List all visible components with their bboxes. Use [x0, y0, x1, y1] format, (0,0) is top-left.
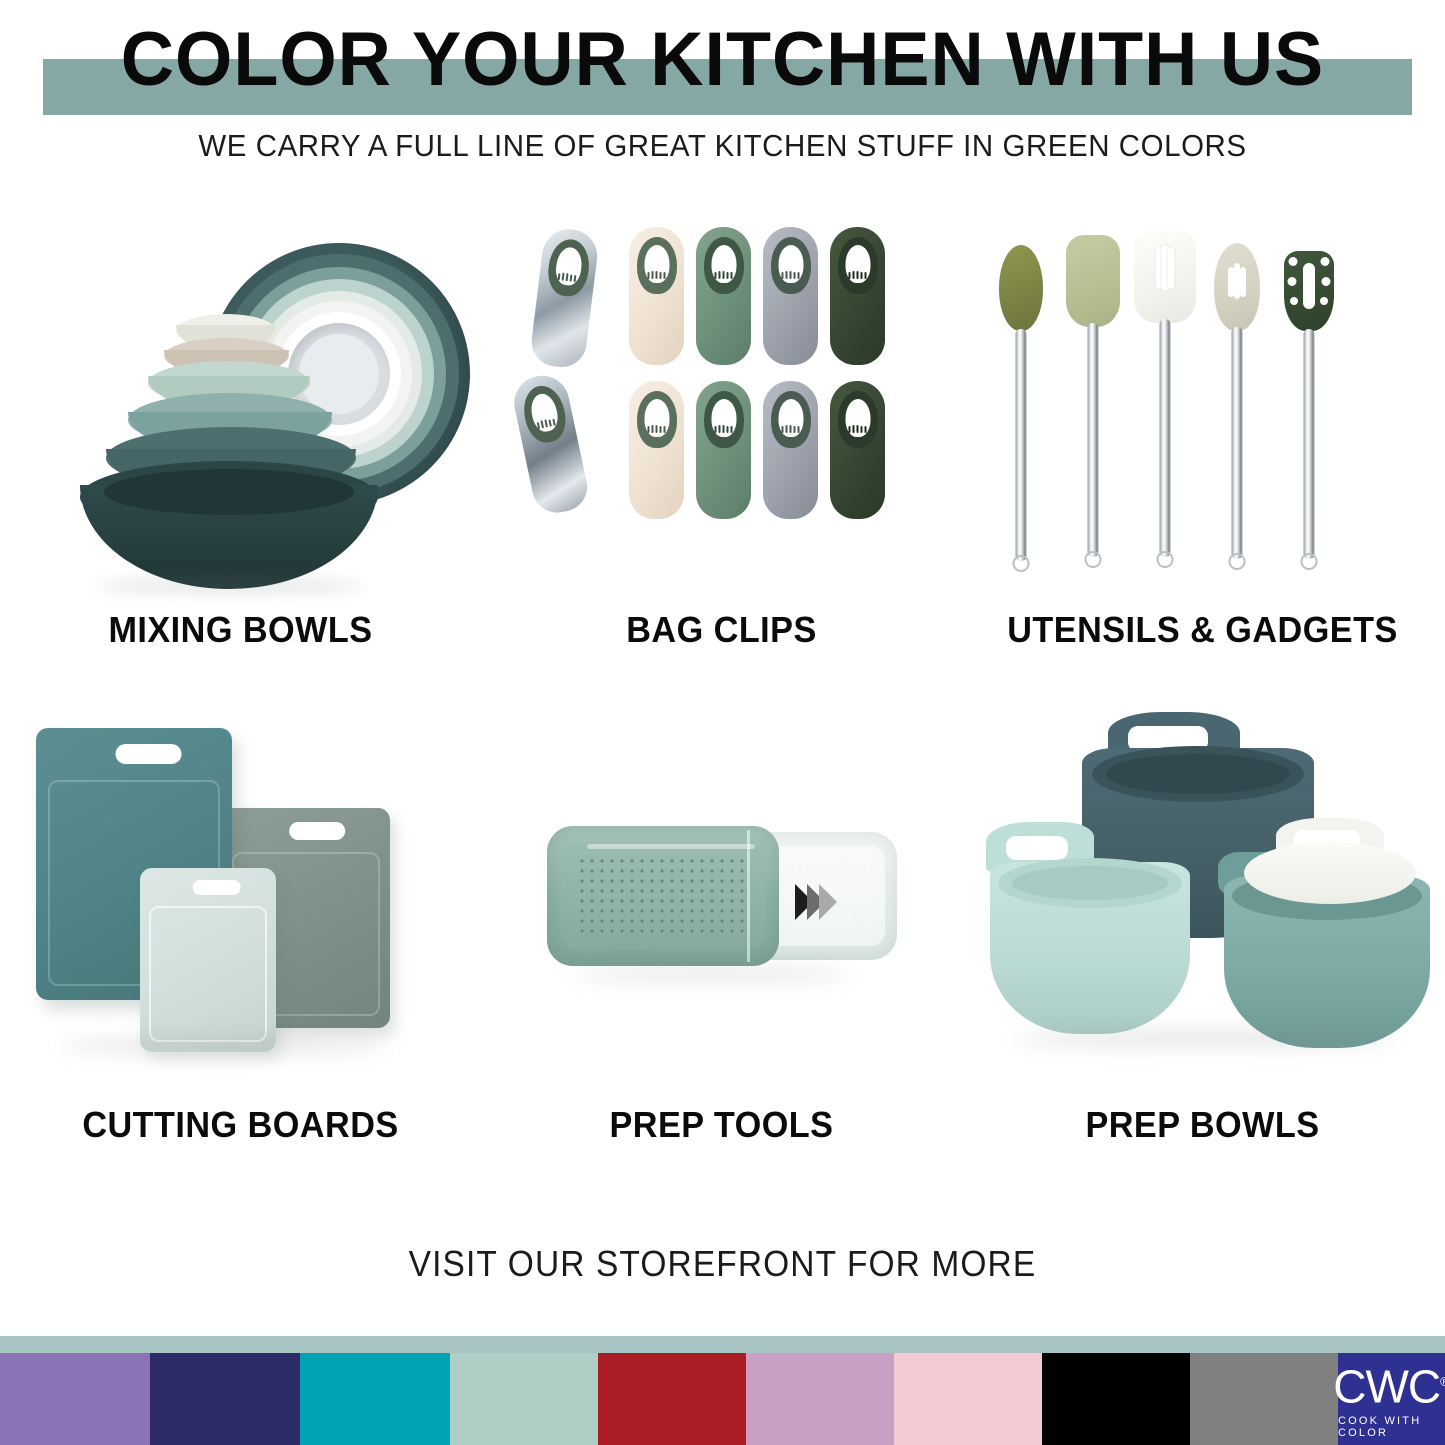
- category-grid: MIXING BOWLS: [0, 205, 1445, 1215]
- color-swatch-crimson: [598, 1353, 746, 1445]
- category-card-mixing-bowls[interactable]: MIXING BOWLS: [0, 205, 481, 685]
- brand-logo: CWC®COOK WITH COLOR: [1338, 1353, 1445, 1445]
- colander-basin: [547, 826, 779, 966]
- prep-bowl-teal: [1224, 818, 1430, 1042]
- cutting-board-mint: [140, 868, 276, 1052]
- utensil-pasta-server: [1286, 243, 1332, 587]
- prep-bowl-mint: [990, 822, 1190, 1040]
- color-swatch-black: [1042, 1353, 1190, 1445]
- utensil-slotted-spoon: [1214, 237, 1260, 587]
- prep-bowls-illustration: [962, 700, 1443, 1100]
- bag-clip-dark-green: [830, 227, 885, 365]
- bag-clip-marble: [529, 226, 600, 370]
- color-swatch-purple: [0, 1353, 150, 1445]
- cutting-boards-illustration: [0, 700, 481, 1100]
- bag-clip-sage: [696, 381, 751, 519]
- logo-mark: CWC®: [1333, 1359, 1445, 1409]
- category-card-prep-tools[interactable]: PREP TOOLS: [481, 700, 962, 1180]
- bag-clip-sage: [696, 227, 751, 365]
- bag-clip-gray: [763, 381, 818, 519]
- bag-clip-cream: [629, 381, 684, 519]
- mixing-bowls-illustration: [0, 205, 481, 605]
- registered-trademark-icon: ®: [1440, 1374, 1445, 1389]
- storefront-cta[interactable]: VISIT OUR STOREFRONT FOR MORE: [51, 1243, 1395, 1285]
- color-swatch-strip: CWC®COOK WITH COLOR: [0, 1353, 1445, 1445]
- category-card-prep-bowls[interactable]: PREP BOWLS: [962, 700, 1443, 1180]
- category-label: CUTTING BOARDS: [12, 1104, 469, 1146]
- category-card-utensils-gadgets[interactable]: UTENSILS & GADGETS: [962, 205, 1443, 685]
- color-swatch-lilac: [746, 1353, 894, 1445]
- page-title: COLOR YOUR KITCHEN WITH US: [22, 18, 1424, 102]
- banner-root: COLOR YOUR KITCHEN WITH US WE CARRY A FU…: [0, 0, 1445, 1445]
- footer-accent-band: [0, 1336, 1445, 1353]
- logo-tagline: COOK WITH COLOR: [1338, 1415, 1445, 1439]
- category-label: PREP TOOLS: [493, 1104, 950, 1146]
- color-swatch-indigo: [150, 1353, 300, 1445]
- category-label: MIXING BOWLS: [12, 609, 469, 651]
- category-label: BAG CLIPS: [493, 609, 950, 651]
- bag-clip-dark-green: [830, 381, 885, 519]
- color-swatch-teal: [300, 1353, 450, 1445]
- bag-clips-illustration: [481, 205, 962, 605]
- category-card-cutting-boards[interactable]: CUTTING BOARDS: [0, 700, 481, 1180]
- utensil-spatula: [1070, 235, 1116, 587]
- bag-clip-marble: [509, 371, 591, 517]
- category-label: PREP BOWLS: [974, 1104, 1431, 1146]
- utensil-slotted-turner: [1142, 231, 1188, 587]
- bag-clip-gray: [763, 227, 818, 365]
- category-card-bag-clips[interactable]: BAG CLIPS: [481, 205, 962, 685]
- color-swatch-blush-pink: [894, 1353, 1042, 1445]
- bag-clip-cream: [629, 227, 684, 365]
- utensils-illustration: [962, 205, 1443, 605]
- color-swatch-gray: [1190, 1353, 1338, 1445]
- prep-tools-illustration: [481, 700, 962, 1100]
- utensil-spoon: [998, 239, 1044, 587]
- color-swatch-sage: [450, 1353, 598, 1445]
- category-label: UTENSILS & GADGETS: [974, 609, 1431, 651]
- header: COLOR YOUR KITCHEN WITH US WE CARRY A FU…: [0, 0, 1445, 185]
- page-subtitle: WE CARRY A FULL LINE OF GREAT KITCHEN ST…: [36, 128, 1409, 164]
